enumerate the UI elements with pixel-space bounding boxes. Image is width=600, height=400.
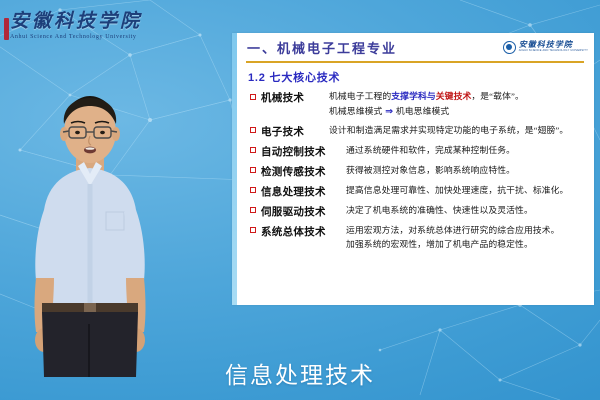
- slide-header: 一、机械电子工程专业 安徽科技学院 ANHUI SCIENCE AND TECH…: [237, 33, 594, 61]
- item-description: 运用宏观方法，对系统总体进行研究的综合应用技术。 加强系统的宏观性，增加了机电产…: [346, 224, 560, 252]
- item-description: 决定了机电系统的准确性、快速性以及灵活性。: [346, 204, 533, 217]
- list-item: 伺服驱动技术 决定了机电系统的准确性、快速性以及灵活性。: [250, 204, 588, 219]
- university-emblem-icon: [503, 41, 516, 54]
- square-bullet-icon: [250, 227, 256, 233]
- video-background: 安徽科技学院 Anhui Science And Technology Univ…: [0, 0, 600, 400]
- desc-pre: 机械电子工程的: [329, 91, 391, 101]
- item-term: 机械技术: [261, 90, 323, 105]
- desc-highlight-blue: 支撑学科: [391, 91, 427, 101]
- item-description: 设计和制造满足需求并实现特定功能的电子系统，是“翅膀”。: [329, 124, 568, 137]
- desc-post: ，是“载体”。: [471, 91, 524, 101]
- desc-line1: 运用宏观方法，对系统总体进行研究的综合应用技术。: [346, 225, 560, 235]
- item-description: 提高信息处理可靠性、加快处理速度，抗干扰、标准化。: [346, 184, 568, 197]
- flow-from: 机械思维模式: [329, 106, 382, 116]
- item-description: 机械电子工程的支撑学科与关键技术，是“载体”。 机械思维模式⇒机电思维模式: [329, 90, 524, 118]
- item-term: 系统总体技术: [261, 224, 340, 239]
- square-bullet-icon: [250, 167, 256, 173]
- item-description-line2: 机械思维模式⇒机电思维模式: [329, 105, 524, 118]
- right-arrow-icon: ⇒: [382, 106, 395, 116]
- square-bullet-icon: [250, 94, 256, 100]
- core-technology-list: 机械技术 机械电子工程的支撑学科与关键技术，是“载体”。 机械思维模式⇒机电思维…: [250, 90, 588, 257]
- list-item: 信息处理技术 提高信息处理可靠性、加快处理速度，抗干扰、标准化。: [250, 184, 588, 199]
- presentation-slide: 一、机械电子工程专业 安徽科技学院 ANHUI SCIENCE AND TECH…: [232, 33, 594, 305]
- university-name-en: Anhui Science And Technology University: [10, 34, 164, 40]
- list-item: 电子技术 设计和制造满足需求并实现特定功能的电子系统，是“翅膀”。: [250, 124, 588, 139]
- slide-logo-name-en: ANHUI SCIENCE AND TECHNOLOGY UNIVERSITY: [519, 50, 588, 53]
- flow-to: 机电思维模式: [396, 106, 449, 116]
- item-term: 信息处理技术: [261, 184, 340, 199]
- item-term: 伺服驱动技术: [261, 204, 340, 219]
- item-description: 获得被测控对象信息，影响系统响应特性。: [346, 164, 515, 177]
- item-term: 自动控制技术: [261, 144, 340, 159]
- item-term: 检测传感技术: [261, 164, 340, 179]
- slide-subtitle: 1.2 七大核心技术: [248, 69, 340, 85]
- slide-title: 一、机械电子工程专业: [247, 38, 397, 57]
- square-bullet-icon: [250, 187, 256, 193]
- list-item: 机械技术 机械电子工程的支撑学科与关键技术，是“载体”。 机械思维模式⇒机电思维…: [250, 90, 588, 118]
- presenter-person: [22, 92, 158, 377]
- university-watermark-logo: 安徽科技学院 Anhui Science And Technology Univ…: [4, 4, 164, 48]
- item-term: 电子技术: [261, 124, 323, 139]
- list-item: 自动控制技术 通过系统硬件和软件，完成某种控制任务。: [250, 144, 588, 159]
- logo-red-seal-icon: [4, 18, 9, 40]
- slide-university-logo: 安徽科技学院 ANHUI SCIENCE AND TECHNOLOGY UNIV…: [503, 41, 588, 54]
- desc-line2: 加强系统的宏观性，增加了机电产品的稳定性。: [346, 238, 560, 251]
- list-item: 系统总体技术 运用宏观方法，对系统总体进行研究的综合应用技术。 加强系统的宏观性…: [250, 224, 588, 252]
- desc-mid: 与: [427, 91, 436, 101]
- item-description: 通过系统硬件和软件，完成某种控制任务。: [346, 144, 515, 157]
- desc-highlight-red: 关键技术: [436, 91, 472, 101]
- square-bullet-icon: [250, 147, 256, 153]
- title-divider-rule: [246, 61, 584, 63]
- square-bullet-icon: [250, 207, 256, 213]
- university-name-cn: 安徽科技学院: [10, 12, 164, 32]
- square-bullet-icon: [250, 127, 256, 133]
- video-caption: 信息处理技术: [0, 356, 600, 390]
- slide-logo-name-cn: 安徽科技学院: [519, 41, 588, 49]
- slide-left-accent-bar: [232, 33, 237, 305]
- list-item: 检测传感技术 获得被测控对象信息，影响系统响应特性。: [250, 164, 588, 179]
